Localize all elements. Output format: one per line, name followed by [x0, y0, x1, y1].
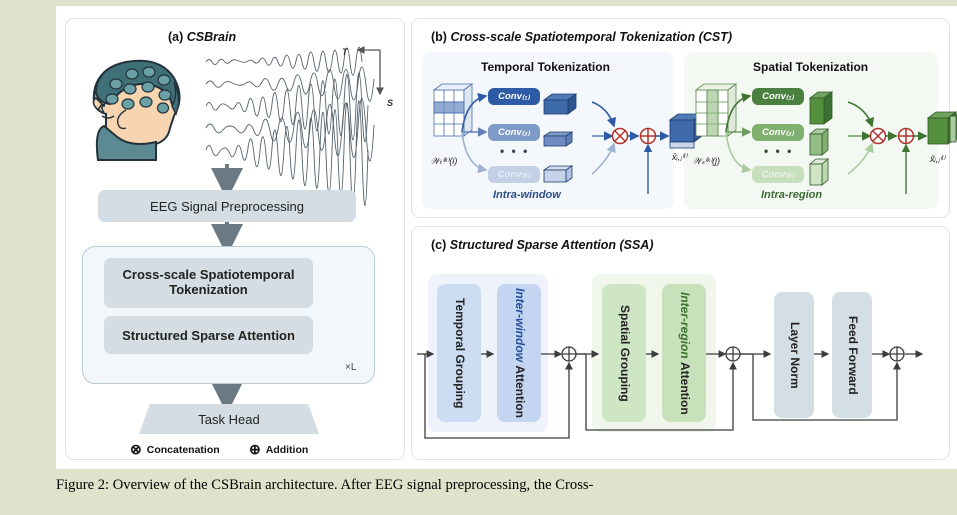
figure-canvas: (a) CSBrain — [56, 6, 957, 469]
caption-text: Overview of the CSBrain architecture. Af… — [113, 477, 594, 493]
caption-label: Figure 2: — [56, 477, 109, 493]
figure-caption: Figure 2: Overview of the CSBrain archit… — [56, 476, 955, 495]
ssa-flow-arrows — [56, 6, 957, 469]
